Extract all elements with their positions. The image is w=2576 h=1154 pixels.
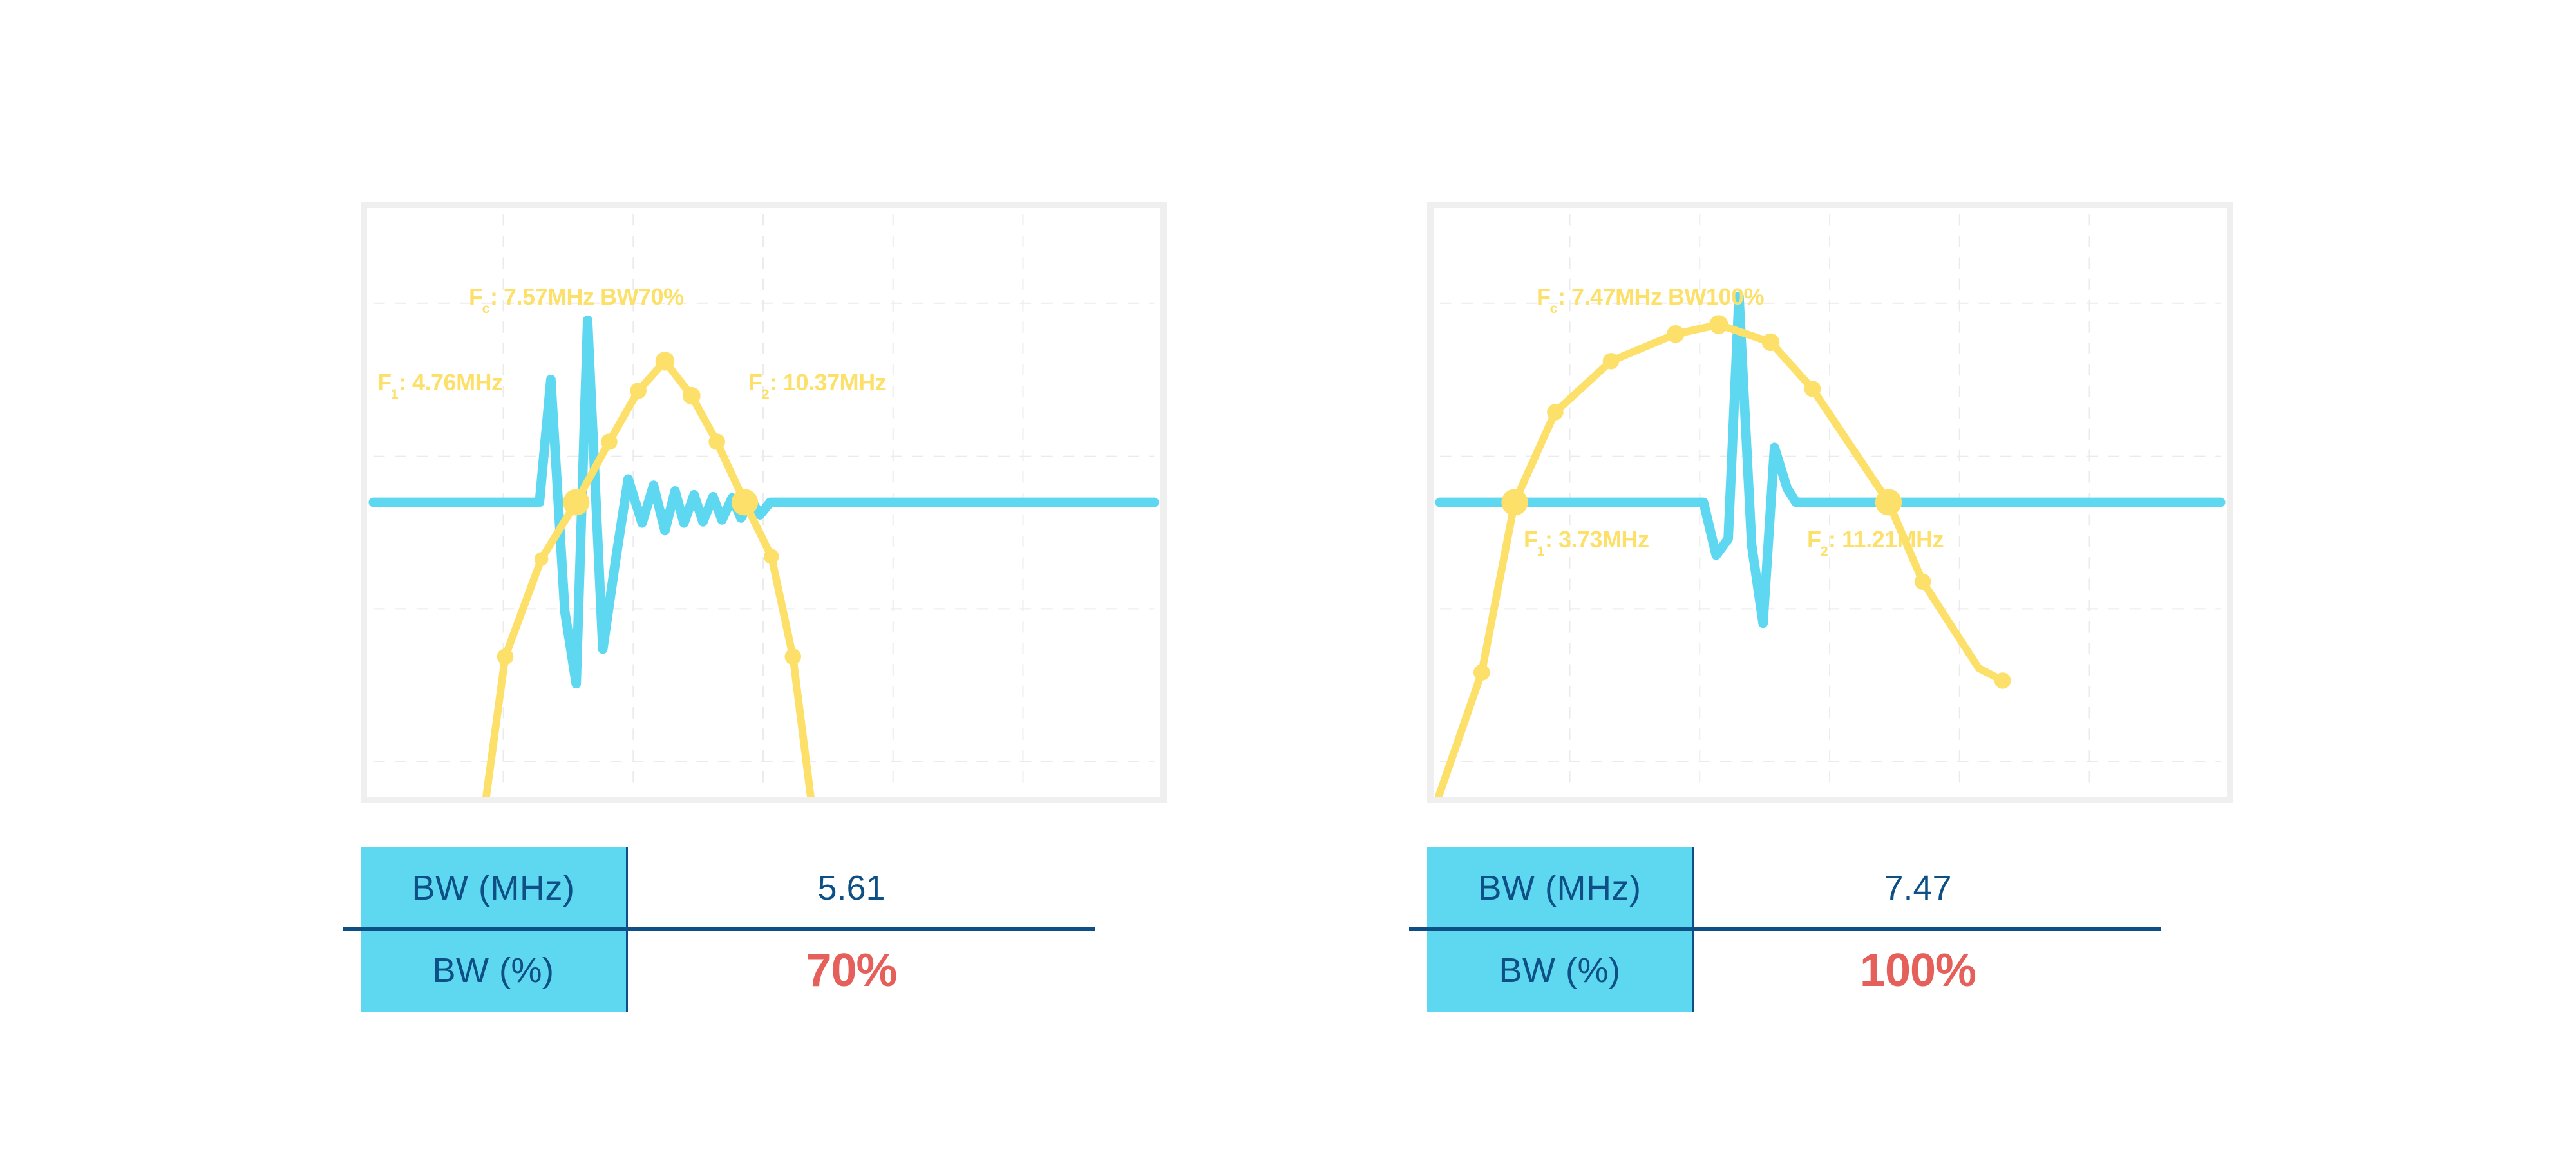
label-f1-subscript: 1 [391,386,399,402]
label-f1-right: F1: 3.73MHz [1524,528,1649,555]
label-f2-text: : 11.21MHz [1828,526,1944,553]
bw-percent-label: BW (%) [361,929,626,1012]
label-center-subscript: c [482,300,490,316]
spectrum-curve-right [1439,325,2003,797]
bw-table-left: BW (MHz) 5.61 BW (%) 70% [361,847,1077,1012]
table-row: BW (%) 100% [1427,929,2143,1012]
label-f2-prefix: F [748,369,762,395]
chart-right: Fc: 7.47MHz BW100% F1: 3.73MHz F2: 11.21… [1427,202,2233,803]
panel-left: Fc: 7.57MHz BW70% F1: 4.76MHz F2: 10.37M… [232,0,1327,1154]
spectrum-curve-left [486,361,811,797]
bw-mhz-label: BW (MHz) [361,847,626,929]
table-row: BW (MHz) 7.47 [1427,847,2143,929]
label-f1-prefix: F [377,369,392,395]
bw-mhz-value: 5.61 [626,847,1077,929]
label-f2-right: F2: 11.21MHz [1807,528,1944,555]
bw-mhz-value: 7.47 [1692,847,2143,929]
bw-mhz-label: BW (MHz) [1427,847,1692,929]
chart-left: Fc: 7.57MHz BW70% F1: 4.76MHz F2: 10.37M… [361,202,1167,803]
table-horizontal-divider [1409,927,2161,931]
label-center-prefix: F [1537,283,1551,310]
label-center-text: : 7.57MHz BW70% [490,283,684,310]
bw-percent-label: BW (%) [1427,929,1692,1012]
label-f2-text: : 10.37MHz [770,369,886,395]
label-f1-subscript: 1 [1537,543,1545,559]
bw-percent-value: 100% [1692,929,2143,1012]
table-row: BW (%) 70% [361,929,1077,1012]
bw-percent-value: 70% [626,929,1077,1012]
label-f1-text: : 4.76MHz [399,369,503,395]
label-center-prefix: F [469,283,483,310]
label-f1-prefix: F [1524,526,1538,553]
label-center-frequency-left: Fc: 7.57MHz BW70% [469,285,684,312]
label-center-subscript: c [1550,300,1558,316]
table-horizontal-divider [343,927,1095,931]
label-center-text: : 7.47MHz BW100% [1558,283,1764,310]
bw-table-right: BW (MHz) 7.47 BW (%) 100% [1427,847,2143,1012]
label-f1-left: F1: 4.76MHz [377,371,503,398]
label-center-frequency-right: Fc: 7.47MHz BW100% [1537,285,1764,312]
label-f2-subscript: 2 [1821,543,1828,559]
table-row: BW (MHz) 5.61 [361,847,1077,929]
label-f2-left: F2: 10.37MHz [748,371,886,398]
figure-root: Fc: 7.57MHz BW70% F1: 4.76MHz F2: 10.37M… [0,0,2576,1154]
panel-right: Fc: 7.47MHz BW100% F1: 3.73MHz F2: 11.21… [1298,0,2393,1154]
label-f2-prefix: F [1807,526,1821,553]
label-f1-text: : 3.73MHz [1545,526,1649,553]
label-f2-subscript: 2 [762,386,770,402]
